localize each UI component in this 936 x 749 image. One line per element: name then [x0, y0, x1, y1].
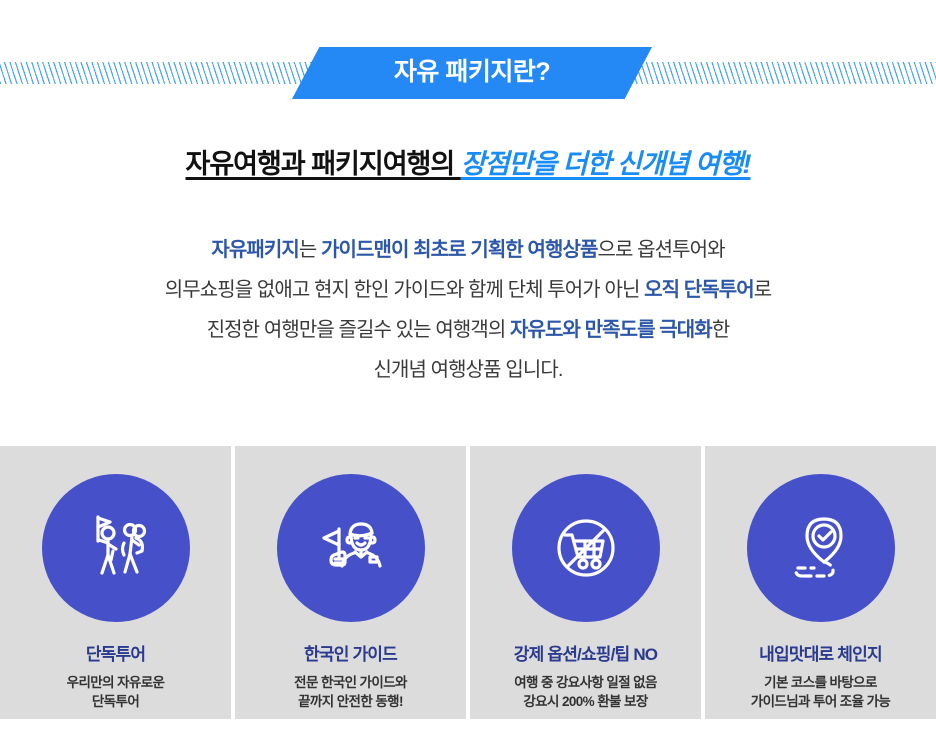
headline-part-accent: 장점만을 더한 신개념 여행! [461, 149, 751, 179]
feature-card-desc-line-1: 우리만의 자유로운 [67, 673, 165, 692]
feature-card-desc: 기본 코스를 바탕으로 가이드님과 투어 조율 가능 [751, 673, 890, 711]
no-shopping-cart-icon [512, 474, 660, 622]
feature-card-desc: 여행 중 강요사항 일절 없음 강요시 200% 환불 보장 [514, 673, 657, 711]
feature-card-korean-guide[interactable]: 한국인 가이드 전문 한국인 가이드와 끝까지 안전한 동행! [235, 446, 466, 719]
lead-line-4: 신개념 여행상품 입니다. [0, 350, 936, 390]
section-banner: 자유 패키지란? [0, 47, 936, 99]
feature-card-custom-change[interactable]: 내입맛대로 체인지 기본 코스를 바탕으로 가이드님과 투어 조율 가능 [705, 446, 936, 719]
hatch-stripes-right [620, 62, 936, 84]
lead-line-3: 진정한 여행만을 즐길수 있는 여행객의 자유도와 만족도를 극대화한 [0, 310, 936, 350]
lead-line2-accent-b: 오직 단독투어 [644, 279, 754, 301]
feature-card-desc-line-2: 끝까지 안전한 동행! [294, 692, 407, 711]
tour-guide-with-flag-icon [277, 474, 425, 622]
feature-card-desc-line-1: 전문 한국인 가이드와 [294, 673, 407, 692]
feature-card-title: 강제 옵션/쇼핑/팁 NO [514, 640, 657, 665]
hatch-stripes-left [0, 62, 322, 84]
banner-title: 자유 패키지란? [394, 60, 550, 87]
feature-card-single-tour[interactable]: 단독투어 우리만의 자유로운 단독투어 [0, 446, 231, 719]
feature-card-list: 단독투어 우리만의 자유로운 단독투어 [0, 446, 936, 719]
lead-line4-text-a: 신개념 여행상품 입니다. [374, 359, 563, 381]
feature-card-desc-line-2: 강요시 200% 환불 보장 [514, 692, 657, 711]
lead-line3-text-c: 한 [712, 319, 730, 341]
feature-card-title: 한국인 가이드 [304, 640, 397, 665]
feature-card-title: 내입맛대로 체인지 [759, 640, 882, 665]
lead-line2-text-c: 로 [754, 279, 772, 301]
lead-line1-text-b: 는 [299, 239, 321, 261]
feature-card-desc-line-1: 여행 중 강요사항 일절 없음 [514, 673, 657, 692]
headline-part-dark: 자유여행과 패키지여행의 [186, 149, 461, 179]
lead-line1-text-d: 으로 옵션투어와 [597, 239, 724, 261]
feature-card-no-forced-options[interactable]: 강제 옵션/쇼핑/팁 NO 여행 중 강요사항 일절 없음 강요시 200% 환… [470, 446, 701, 719]
lead-line2-text-a: 의무쇼핑을 없애고 현지 한인 가이드와 함께 단체 투어가 아닌 [165, 279, 644, 301]
lead-paragraph: 자유패키지는 가이드맨이 최초로 기획한 여행상품으로 옵션투어와 의무쇼핑을 … [0, 230, 936, 390]
feature-card-desc: 우리만의 자유로운 단독투어 [67, 673, 165, 711]
lead-line-2: 의무쇼핑을 없애고 현지 한인 가이드와 함께 단체 투어가 아닌 오직 단독투… [0, 270, 936, 310]
two-hikers-icon [42, 474, 190, 622]
feature-card-desc-line-2: 단독투어 [67, 692, 165, 711]
lead-line-1: 자유패키지는 가이드맨이 최초로 기획한 여행상품으로 옵션투어와 [0, 230, 936, 270]
lead-line3-accent-b: 자유도와 만족도를 극대화 [510, 319, 712, 341]
page-headline: 자유여행과 패키지여행의 장점만을 더한 신개념 여행! [0, 142, 936, 181]
feature-card-desc: 전문 한국인 가이드와 끝까지 안전한 동행! [294, 673, 407, 711]
lead-line1-accent-a: 자유패키지 [211, 239, 299, 261]
lead-line1-accent-c: 가이드맨이 최초로 기획한 여행상품 [321, 239, 597, 261]
lead-line3-text-a: 진정한 여행만을 즐길수 있는 여행객의 [207, 319, 510, 341]
feature-card-title: 단독투어 [86, 640, 145, 665]
banner-ribbon: 자유 패키지란? [292, 47, 652, 99]
feature-card-desc-line-2: 가이드님과 투어 조율 가능 [751, 692, 890, 711]
map-pin-check-route-icon [747, 474, 895, 622]
feature-card-desc-line-1: 기본 코스를 바탕으로 [751, 673, 890, 692]
